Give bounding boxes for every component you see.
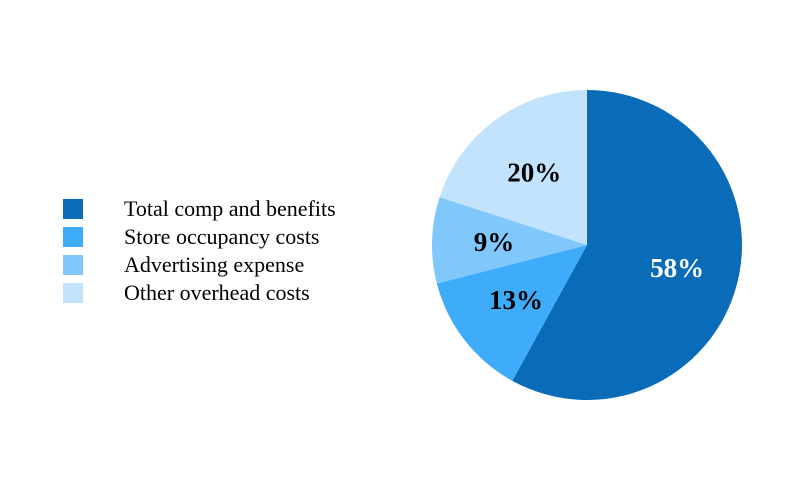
pie-slice-value-label: 13%: [489, 285, 543, 315]
legend-item-advertising-expense[interactable]: Advertising expense: [63, 255, 393, 275]
pie-slice-value-label: 9%: [474, 227, 515, 257]
legend-swatch-icon: [63, 227, 83, 247]
pie-slice-value-label: 58%: [650, 253, 704, 283]
legend-item-total-comp-and-benefits[interactable]: Total comp and benefits: [63, 199, 393, 219]
legend-swatch-icon: [63, 255, 83, 275]
legend-item-label: Total comp and benefits: [124, 198, 336, 220]
pie-slice-value-label: 20%: [507, 157, 561, 187]
legend-item-label: Store occupancy costs: [124, 226, 320, 248]
pie-plot-area: 58%13%9%20%: [432, 90, 742, 400]
pie-chart-figure: Total comp and benefits Store occupancy …: [0, 0, 800, 502]
legend-swatch-icon: [63, 199, 83, 219]
legend-item-label: Advertising expense: [124, 254, 304, 276]
legend-swatch-icon: [63, 283, 83, 303]
pie-svg: 58%13%9%20%: [432, 90, 742, 400]
legend-item-store-occupancy-costs[interactable]: Store occupancy costs: [63, 227, 393, 247]
chart-legend: Total comp and benefits Store occupancy …: [63, 199, 393, 303]
legend-item-label: Other overhead costs: [124, 282, 310, 304]
legend-item-other-overhead-costs[interactable]: Other overhead costs: [63, 283, 393, 303]
